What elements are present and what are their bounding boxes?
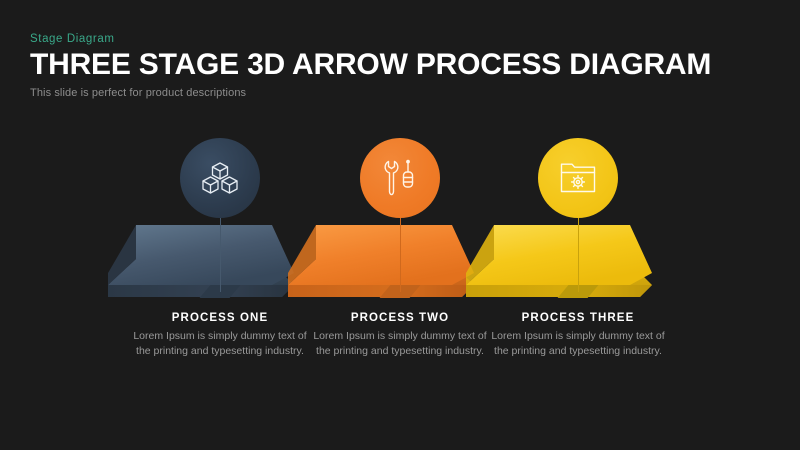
stem-connector-three — [578, 218, 580, 292]
slide-subtitle: This slide is perfect for product descri… — [30, 87, 770, 99]
stage-body-three: Lorem Ipsum is simply dummy text of the … — [458, 329, 698, 359]
slide-header: Stage Diagram THREE STAGE 3D ARROW PROCE… — [30, 33, 770, 99]
stage-badge-two[interactable] — [360, 138, 440, 218]
stage-caption-three: PROCESS THREE Lorem Ipsum is simply dumm… — [458, 312, 698, 359]
boxes-icon — [202, 161, 238, 195]
stage-group: PROCESS ONE Lorem Ipsum is simply dummy … — [0, 130, 800, 400]
stage-item-three[interactable]: PROCESS THREE Lorem Ipsum is simply dumm… — [458, 130, 698, 400]
stem-connector-two — [400, 218, 402, 292]
eyebrow-label: Stage Diagram — [30, 33, 770, 45]
stage-heading-three: PROCESS THREE — [458, 312, 698, 324]
slide-canvas: Stage Diagram THREE STAGE 3D ARROW PROCE… — [0, 0, 800, 450]
tools-icon — [383, 159, 417, 197]
page-title: THREE STAGE 3D ARROW PROCESS DIAGRAM — [30, 49, 770, 80]
stage-badge-three[interactable] — [538, 138, 618, 218]
folder-gear-icon — [559, 161, 597, 195]
stage-badge-one[interactable] — [180, 138, 260, 218]
stem-connector-one — [220, 218, 222, 292]
